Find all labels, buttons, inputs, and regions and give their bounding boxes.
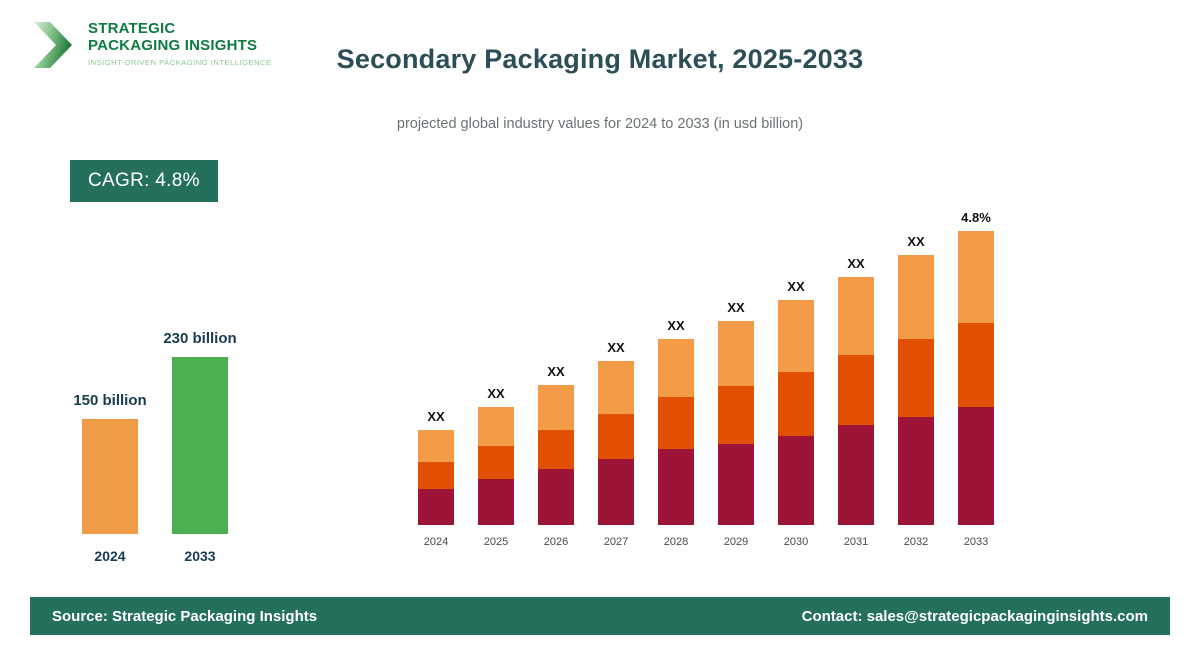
stacked-bar-segment-top — [718, 321, 754, 386]
stacked-bar-2027: XX2027 — [598, 361, 634, 525]
stacked-bar-segment-bottom — [778, 436, 814, 525]
stacked-bar-chart: XX2024XX2025XX2026XX2027XX2028XX2029XX20… — [400, 190, 1020, 560]
page-subtitle: projected global industry values for 202… — [0, 116, 1200, 132]
comparison-bar-year: 2024 — [94, 548, 125, 564]
stacked-bar-label: XX — [487, 386, 504, 401]
stacked-bar-year: 2030 — [784, 536, 808, 548]
stacked-bar-label: XX — [727, 300, 744, 315]
stacked-bar-label: 4.8% — [961, 210, 991, 225]
footer-contact: Contact: sales@strategicpackaginginsight… — [802, 608, 1148, 625]
stacked-bar-segment-middle — [838, 355, 874, 426]
stacked-bar-segment-middle — [778, 372, 814, 436]
comparison-bar-fill — [172, 357, 228, 534]
stacked-bar-year: 2032 — [904, 536, 928, 548]
stacked-bar-segment-top — [958, 231, 994, 322]
stacked-bar-label: XX — [427, 409, 444, 424]
stacked-bar-segment-bottom — [538, 469, 574, 525]
stacked-bar-segment-middle — [478, 446, 514, 479]
stacked-bar-2031: XX2031 — [838, 277, 874, 525]
stacked-bar-2024: XX2024 — [418, 430, 454, 525]
stacked-bar-segment-bottom — [898, 417, 934, 526]
stacked-bar-label: XX — [787, 279, 804, 294]
stacked-bar-year: 2026 — [544, 536, 568, 548]
footer-bar: Source: Strategic Packaging Insights Con… — [30, 597, 1170, 635]
stacked-bar-2030: XX2030 — [778, 300, 814, 525]
stacked-bar-year: 2031 — [844, 536, 868, 548]
stacked-bar-segment-bottom — [658, 449, 694, 525]
stacked-bar-label: XX — [847, 256, 864, 271]
comparison-bar-value: 150 billion — [73, 392, 146, 409]
stacked-bar-2025: XX2025 — [478, 407, 514, 525]
page-title: Secondary Packaging Market, 2025-2033 — [0, 44, 1200, 75]
comparison-bar-chart: 150 billion2024230 billion2033 — [40, 300, 310, 570]
stacked-bar-year: 2027 — [604, 536, 628, 548]
stacked-bar-segment-top — [538, 385, 574, 431]
footer-source: Source: Strategic Packaging Insights — [52, 608, 317, 625]
stacked-bar-segment-top — [478, 407, 514, 446]
stacked-bar-segment-bottom — [598, 459, 634, 525]
stacked-bar-segment-top — [658, 339, 694, 397]
stacked-bar-label: XX — [907, 234, 924, 249]
stacked-bar-2029: XX2029 — [718, 321, 754, 525]
stacked-bar-segment-middle — [418, 462, 454, 489]
stacked-bar-2028: XX2028 — [658, 339, 694, 525]
stacked-bar-segment-middle — [538, 430, 574, 469]
cagr-badge: CAGR: 4.8% — [70, 160, 218, 202]
stacked-bar-segment-middle — [598, 414, 634, 460]
stacked-bar-segment-top — [778, 300, 814, 372]
comparison-bar-year: 2033 — [184, 548, 215, 564]
comparison-bar-value: 230 billion — [163, 330, 236, 347]
stacked-bar-segment-bottom — [478, 479, 514, 526]
stacked-bar-year: 2025 — [484, 536, 508, 548]
stacked-bar-year: 2024 — [424, 536, 448, 548]
stacked-bar-segment-top — [838, 277, 874, 355]
brand-name-line1: STRATEGIC — [88, 20, 272, 37]
stacked-bar-segment-bottom — [418, 489, 454, 525]
stacked-bar-segment-middle — [898, 339, 934, 417]
comparison-bar-2024: 150 billion2024 — [82, 419, 138, 534]
comparison-bar-2033: 230 billion2033 — [172, 357, 228, 534]
stacked-bar-segment-middle — [958, 323, 994, 407]
stacked-bar-year: 2029 — [724, 536, 748, 548]
stacked-bar-year: 2033 — [964, 536, 988, 548]
stacked-bar-label: XX — [667, 318, 684, 333]
stacked-bar-2032: XX2032 — [898, 255, 934, 525]
stacked-bar-2026: XX2026 — [538, 385, 574, 525]
stacked-bar-segment-bottom — [958, 407, 994, 525]
stacked-bar-segment-bottom — [718, 444, 754, 525]
comparison-bar-fill — [82, 419, 138, 534]
stacked-bar-segment-middle — [658, 397, 694, 449]
stacked-bar-segment-bottom — [838, 425, 874, 525]
stacked-bar-year: 2028 — [664, 536, 688, 548]
stacked-bar-segment-middle — [718, 386, 754, 444]
stacked-bar-2033: 4.8%2033 — [958, 231, 994, 525]
stacked-bar-segment-top — [418, 430, 454, 462]
stacked-bar-label: XX — [607, 340, 624, 355]
stacked-bar-label: XX — [547, 364, 564, 379]
stacked-bar-segment-top — [598, 361, 634, 413]
stacked-bar-segment-top — [898, 255, 934, 339]
